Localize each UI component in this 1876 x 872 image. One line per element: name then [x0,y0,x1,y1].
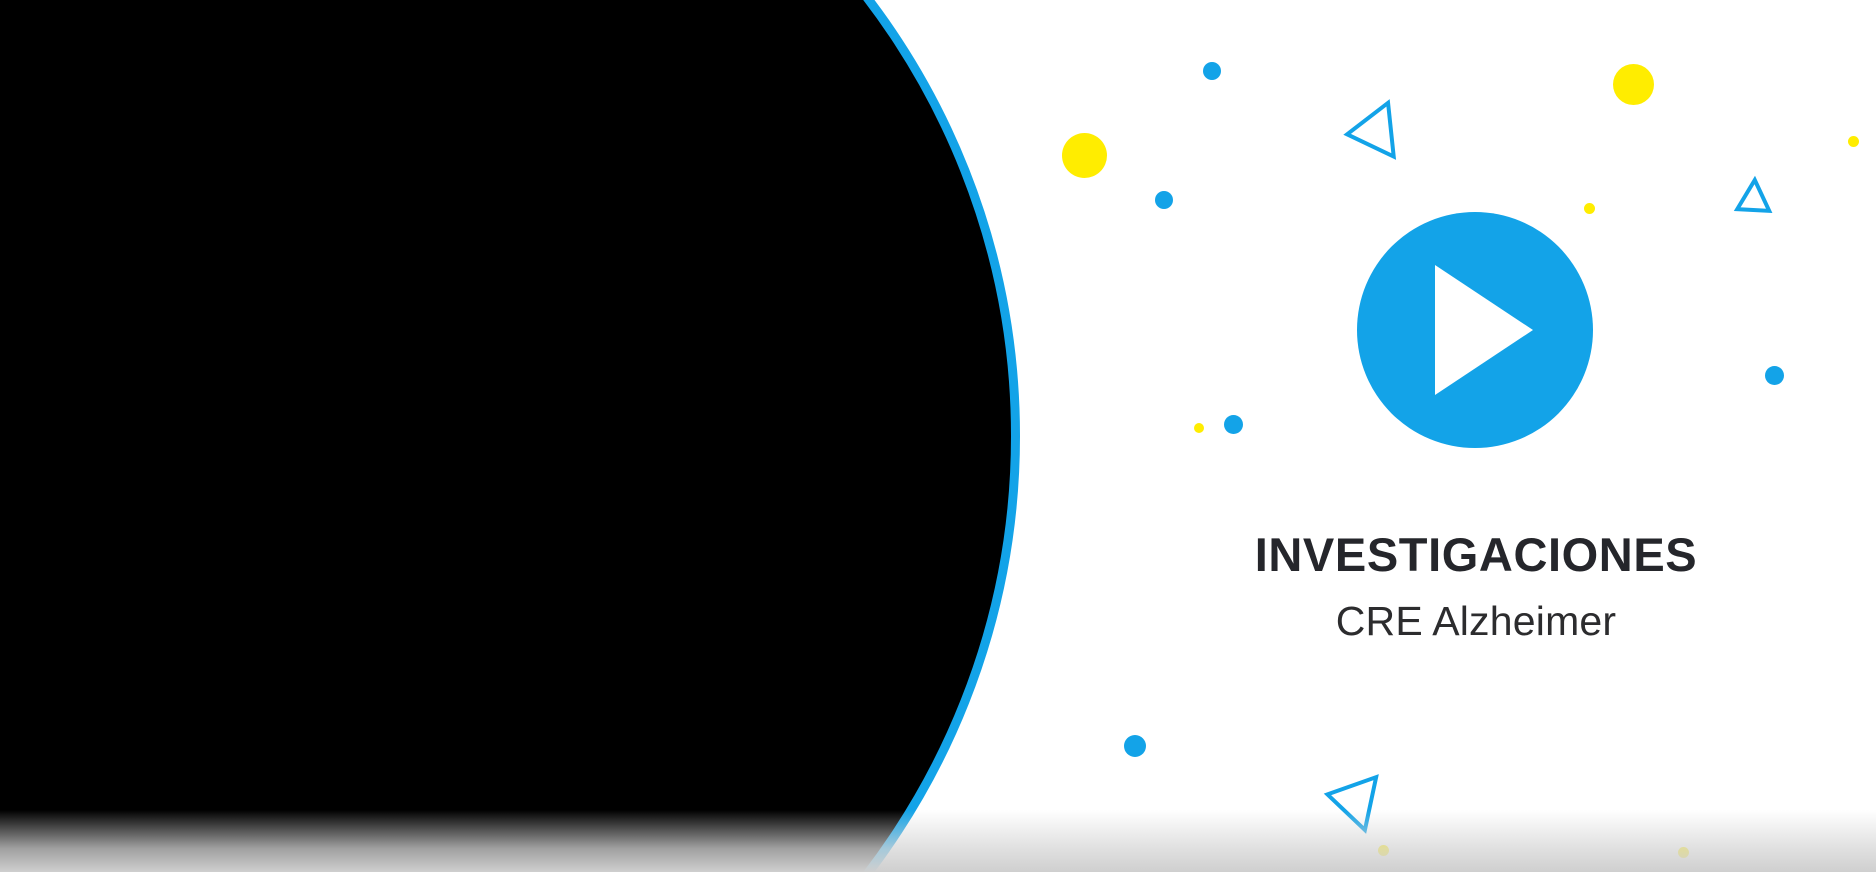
yellow-dot-2 [1613,64,1654,105]
play-icon [1435,265,1533,395]
blue-dot-5 [1124,735,1146,757]
blue-dot-3 [1224,415,1243,434]
video-thumbnail-disc[interactable] [0,0,1020,872]
yellow-dot-6 [1378,845,1389,856]
yellow-dot-7 [1678,847,1689,858]
blue-dot-4 [1765,366,1784,385]
page-title: INVESTIGACIONES [1016,530,1876,579]
tri-left-2-icon [1319,766,1378,833]
yellow-dot-1 [1062,133,1107,178]
video-card-screen: INVESTIGACIONES CRE Alzheimer [0,0,1876,872]
play-button[interactable] [1357,212,1593,448]
page-subtitle: CRE Alzheimer [1016,598,1876,645]
yellow-dot-4 [1848,136,1859,147]
tri-left-1-icon [1342,101,1396,164]
blue-dot-1 [1203,62,1221,80]
tri-up-1-icon [1735,177,1773,213]
blue-dot-2 [1155,191,1173,209]
yellow-dot-5 [1194,423,1204,433]
yellow-dot-3 [1584,203,1595,214]
